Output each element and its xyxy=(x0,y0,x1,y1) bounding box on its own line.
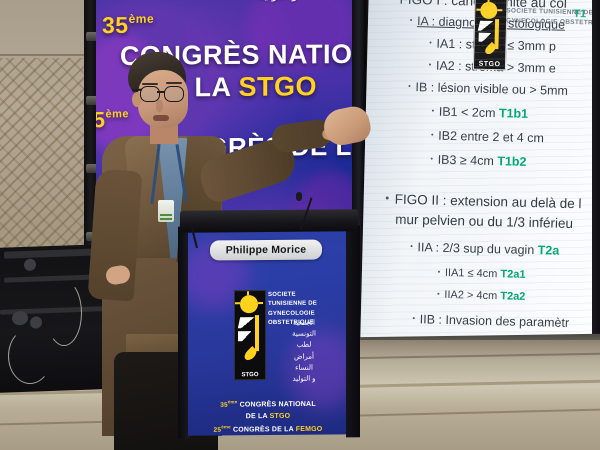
slide-code-t2a2: T2a2 xyxy=(500,290,525,303)
bullet-dot-icon xyxy=(386,197,389,200)
badge-stripe xyxy=(160,214,172,216)
logo-bar-icon xyxy=(255,315,259,351)
society-name-arabic: الجمعية التونسية لطب أمراض النساء و التو… xyxy=(268,317,340,385)
slide-bullet-ib: IB : lésion visible ou > 5mm xyxy=(408,80,568,99)
society-ar-l1: الجمعية xyxy=(268,317,340,329)
slide-text-ib3: IB3 ≥ 4cm xyxy=(438,153,498,168)
watermark-tag-t1: T1 xyxy=(573,8,586,20)
bullet-dot-icon xyxy=(437,292,439,294)
figure-shape-icon xyxy=(479,33,491,42)
right-wall-strip xyxy=(592,0,600,352)
podium-stgo: STGO xyxy=(270,413,291,420)
microphone-head-right xyxy=(296,192,302,201)
slide-text-ib: IB : lésion visible ou > 5mm xyxy=(415,80,568,98)
sun-ray-icon xyxy=(488,0,490,3)
society-logo-panel: STGO SOCIETE TUNISIENNE DE GYNECOLOGIE O… xyxy=(232,289,344,395)
podium-congres-national: CONGRÈS NATIONAL xyxy=(240,401,316,409)
slide-bullet-ib1: IB1 < 2cm T1b1 xyxy=(432,105,529,122)
stage-cable xyxy=(46,280,82,346)
sun-icon xyxy=(480,2,497,19)
bullet-dot-icon xyxy=(410,19,412,21)
society-ar-l6: و التوليد xyxy=(268,373,340,385)
slide-text-iia: IIA : 2/3 sup du vagin xyxy=(417,240,538,257)
eyeglasses-bridge xyxy=(157,91,165,93)
slide-text-iib: IIB : Invasion des paramètr xyxy=(420,312,570,330)
rack-knob xyxy=(30,316,42,328)
figure-shape-icon xyxy=(478,21,494,31)
podium-foot-line1: 35ème CONGRÈS NATIONAL xyxy=(202,397,334,411)
slide-code-t1b1: T1b1 xyxy=(499,106,529,121)
badge-stripe xyxy=(160,218,172,220)
bullet-dot-icon xyxy=(438,270,440,272)
backdrop-sup-35: ème xyxy=(129,12,155,26)
podium-top-surface xyxy=(180,209,358,233)
slide-bullet-iia1: IIA1 ≤ 4cm T2a1 xyxy=(438,267,526,282)
podium-front-panel: STGO SOCIETE TUNISIENNE DE GYNECOLOGIE O… xyxy=(188,229,346,435)
speaker-mouth xyxy=(153,115,169,121)
speaker-badge xyxy=(158,200,174,222)
backdrop-num-35: 35 xyxy=(102,12,129,38)
slide-text-ib2: IB2 entre 2 et 4 cm xyxy=(438,129,544,146)
slide-text-iia1: IIA1 ≤ 4cm xyxy=(445,267,501,280)
slide-bullet-figo2: FIGO II : extension au delà de l xyxy=(385,191,581,212)
podium-right-edge xyxy=(346,225,360,437)
figure-shape-icon xyxy=(238,317,255,328)
slide-code-t2a: T2a xyxy=(538,243,560,258)
speaker-nose xyxy=(156,100,163,112)
society-ar-l3: لطب xyxy=(268,340,340,352)
slide-bullet-iib: IIB : Invasion des paramètr xyxy=(413,312,570,331)
bullet-dot-icon xyxy=(431,134,433,136)
speaker-nameplate: Philippe Morice xyxy=(210,240,322,261)
podium-congres-de-la: CONGRÈS DE LA xyxy=(233,426,296,434)
slide-bullet-ib3: IB3 ≥ 4cm T1b2 xyxy=(430,153,526,170)
speaker-brow-left xyxy=(142,83,158,85)
watermark-logo-label: STGO xyxy=(475,61,504,69)
sun-ray-icon xyxy=(247,291,249,295)
slide-text-iia2: IIA2 > 4cm xyxy=(444,289,500,302)
bullet-dot-icon xyxy=(408,85,410,87)
slide-bullet-ib2: IB2 entre 2 et 4 cm xyxy=(431,129,544,146)
sun-ray-icon xyxy=(258,302,263,304)
stgo-logo-icon: STGO xyxy=(234,290,266,380)
speaker-name: Philippe Morice xyxy=(226,244,307,257)
rack-knob xyxy=(24,259,36,271)
slide-text-figo2-l1: FIGO II : extension au delà de l xyxy=(395,192,582,212)
bullet-dot-icon xyxy=(431,158,433,160)
podium-logo-label: STGO xyxy=(236,372,264,378)
podium-num-35: 35 xyxy=(220,402,228,409)
slide-code-t1b2: T1b2 xyxy=(497,154,527,169)
slide-bullet-iia2: IIA2 > 4cm T2a2 xyxy=(437,289,525,304)
society-ar-l2: التونسية xyxy=(268,329,340,341)
left-wall-panel xyxy=(0,0,96,268)
wall-seam xyxy=(0,54,96,56)
society-ar-l5: النساء xyxy=(268,362,340,374)
podium-de-la: DE LA xyxy=(246,413,270,420)
sun-ray-icon xyxy=(235,302,240,304)
conference-photo-scene: و التوليد 35ème CONGRÈS NATIONAL DE LA S… xyxy=(0,0,600,450)
podium-sup-35: ème xyxy=(228,399,238,404)
rack-knob xyxy=(12,311,28,326)
bullet-dot-icon xyxy=(432,110,434,112)
society-ar-l4: أمراض xyxy=(268,351,340,363)
backdrop-arabic-line: و التوليد xyxy=(188,0,364,2)
slide-text-figo2-line2-row: mur pelvien ou du 1/3 inférieu xyxy=(395,212,573,232)
slide-bullet-iia: IIA : 2/3 sup du vagin T2a xyxy=(410,240,559,258)
sun-icon xyxy=(240,295,258,313)
podium-foot-line3: 25ème CONGRÈS DE LA FEMGO xyxy=(202,423,334,436)
sun-ray-icon xyxy=(476,9,481,11)
speaker-podium: STGO SOCIETE TUNISIENNE DE GYNECOLOGIE O… xyxy=(186,209,352,435)
figure-shape-icon xyxy=(238,331,251,341)
stgo-watermark-logo-icon: STGO xyxy=(473,0,508,70)
backdrop-edition-35: 35ème xyxy=(102,7,364,40)
bullet-dot-icon xyxy=(411,245,413,247)
wall-hatch-pattern-b xyxy=(0,58,96,268)
bullet-dot-icon xyxy=(429,64,431,66)
bullet-dot-icon xyxy=(430,42,432,44)
eyeglasses-lens-right xyxy=(164,86,184,102)
stage-cable xyxy=(8,328,52,384)
podium-congress-text: 35ème CONGRÈS NATIONAL DE LA STGO 25ème … xyxy=(202,397,334,435)
podium-femgo: FEMGO xyxy=(296,426,323,433)
bullet-dot-icon xyxy=(413,317,415,319)
sun-ray-icon xyxy=(497,9,502,11)
slide-text-figo2-l2: mur pelvien ou du 1/3 inférieu xyxy=(395,212,573,231)
slide-text-ib1: IB1 < 2cm xyxy=(439,105,499,120)
podium-sup-25: ème xyxy=(221,424,231,429)
slide-code-t2a1: T2a1 xyxy=(500,268,525,281)
speaker-brow-right xyxy=(166,82,182,84)
